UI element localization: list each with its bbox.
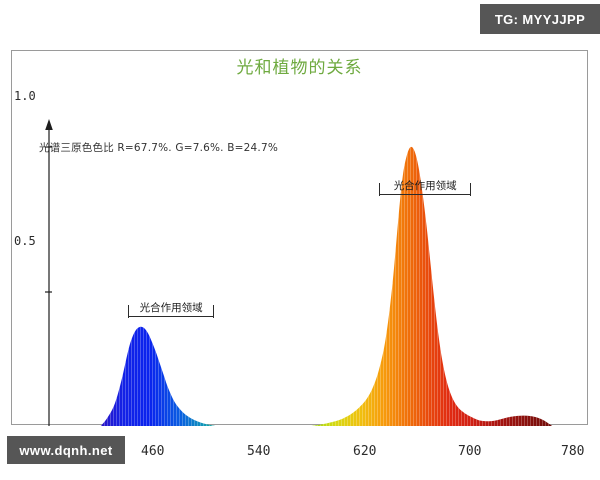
annotation-label: 光合作用领域 — [379, 178, 471, 193]
y-axis-arrow — [45, 119, 53, 130]
bracket-bar — [128, 316, 214, 317]
y-tick-label-0-5: 0.5 — [14, 234, 36, 248]
chart-frame: 光和植物的关系 光谱三原色色比 R=67.7%. G=7.6%. B=24.7% — [11, 50, 588, 425]
x-tick-label-620: 620 — [353, 444, 376, 459]
x-tick-label-700: 700 — [458, 444, 481, 459]
bracket-bar — [379, 194, 471, 195]
x-tick-label-540: 540 — [247, 444, 270, 459]
site-watermark-label: www.dqnh.net — [19, 443, 112, 458]
spectrum-plot — [12, 51, 589, 426]
annotation-photosynthesis-blue: 光合作用领域 — [128, 301, 214, 323]
x-tick-label-460: 460 — [141, 444, 164, 459]
x-tick-label-780: 780 — [561, 444, 584, 459]
annotation-label: 光合作用领域 — [128, 300, 214, 315]
tg-watermark-badge: TG: MYYJJPP — [480, 4, 600, 34]
y-tick-label-1: 1.0 — [14, 89, 36, 103]
spectrum-stripe-overlay — [12, 51, 589, 426]
site-watermark-badge: www.dqnh.net — [7, 436, 125, 464]
tg-watermark-label: TG: MYYJJPP — [495, 12, 585, 27]
annotation-photosynthesis-red: 光合作用领域 — [379, 179, 471, 201]
